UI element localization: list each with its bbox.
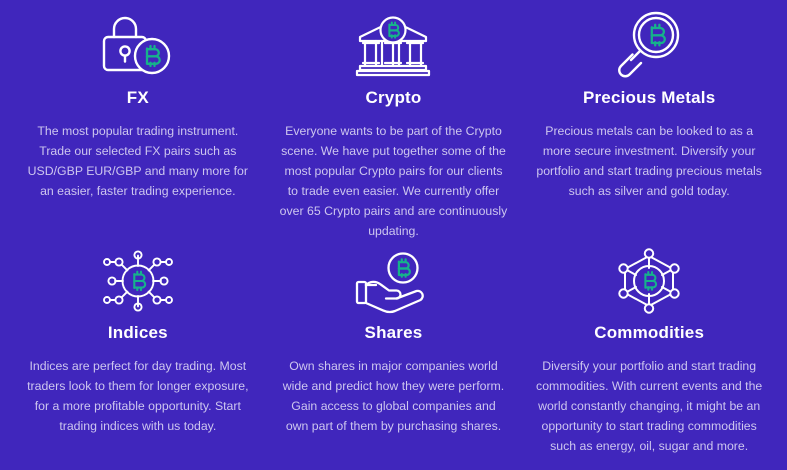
feature-card-commodities[interactable]: Commodities Diversify your portfolio and… [521, 241, 777, 464]
feature-title: Shares [365, 323, 423, 343]
padlock-bitcoin-icon [100, 4, 176, 86]
bank-building-bitcoin-icon [354, 4, 432, 86]
feature-title: Indices [108, 323, 168, 343]
feature-description: Precious metals can be looked to as a mo… [535, 122, 763, 202]
feature-description: Everyone wants to be part of the Crypto … [280, 122, 508, 241]
feature-card-shares[interactable]: Shares Own shares in major companies wor… [266, 241, 522, 464]
feature-card-precious-metals[interactable]: Precious Metals Precious metals can be l… [521, 4, 777, 241]
network-nodes-bitcoin-icon [101, 241, 175, 321]
features-grid: FX The most popular trading instrument. … [0, 0, 787, 470]
magnifier-bitcoin-icon [612, 4, 686, 86]
hand-holding-bitcoin-icon [353, 241, 433, 321]
feature-description: Own shares in major companies world wide… [280, 357, 508, 437]
feature-description: Diversify your portfolio and start tradi… [535, 357, 763, 457]
feature-card-fx[interactable]: FX The most popular trading instrument. … [10, 4, 266, 241]
feature-description: The most popular trading instrument. Tra… [24, 122, 252, 202]
hexagon-network-bitcoin-icon [612, 241, 686, 321]
feature-card-indices[interactable]: Indices Indices are perfect for day trad… [10, 241, 266, 464]
feature-title: Precious Metals [583, 88, 715, 108]
feature-description: Indices are perfect for day trading. Mos… [24, 357, 252, 437]
feature-title: Commodities [594, 323, 704, 343]
feature-card-crypto[interactable]: Crypto Everyone wants to be part of the … [266, 4, 522, 241]
feature-title: Crypto [366, 88, 422, 108]
feature-title: FX [127, 88, 149, 108]
